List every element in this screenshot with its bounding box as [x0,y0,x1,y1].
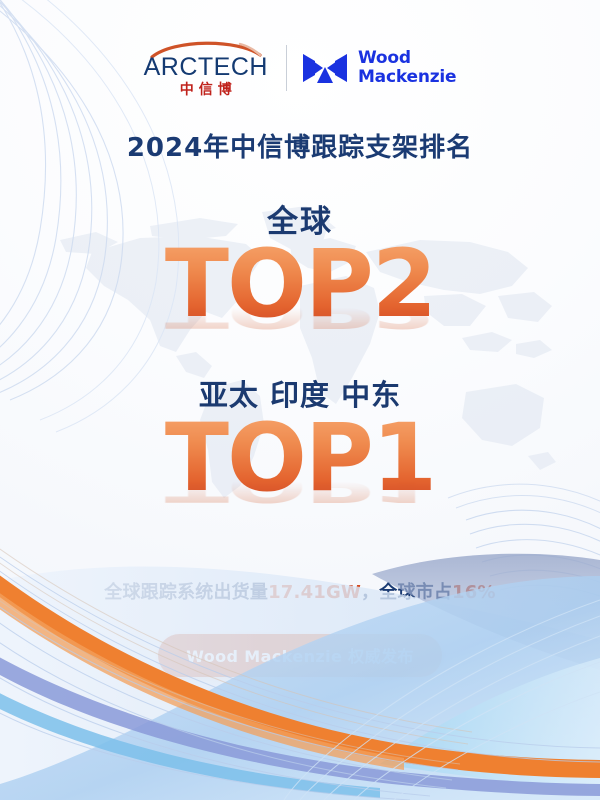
arctech-chinese-name: 中信博 [175,83,237,97]
rank-value-global-reflection: TOP2 [0,290,600,333]
arctech-wordmark: ARCTECH [144,55,268,80]
wood-mackenzie-line1: Wood [358,49,456,67]
arctech-logo: ARCTECH 中信博 [144,38,286,97]
rank-value-regions-reflection: TOP1 [0,464,600,507]
logo-row: ARCTECH 中信博 Wood Mackenzie [0,38,600,97]
wave-decoration [0,540,600,800]
wood-mackenzie-line2: Mackenzie [358,68,456,86]
page-title: 2024年中信博跟踪支架排名 [0,127,600,164]
wood-mackenzie-logo: Wood Mackenzie [303,49,456,86]
wood-mackenzie-wordmark: Wood Mackenzie [358,49,456,86]
logo-divider [286,45,287,91]
poster-canvas: ARCTECH 中信博 Wood Mackenzie 2024年中信博跟踪支架排… [0,0,600,800]
wood-mackenzie-mark-icon [303,53,347,83]
